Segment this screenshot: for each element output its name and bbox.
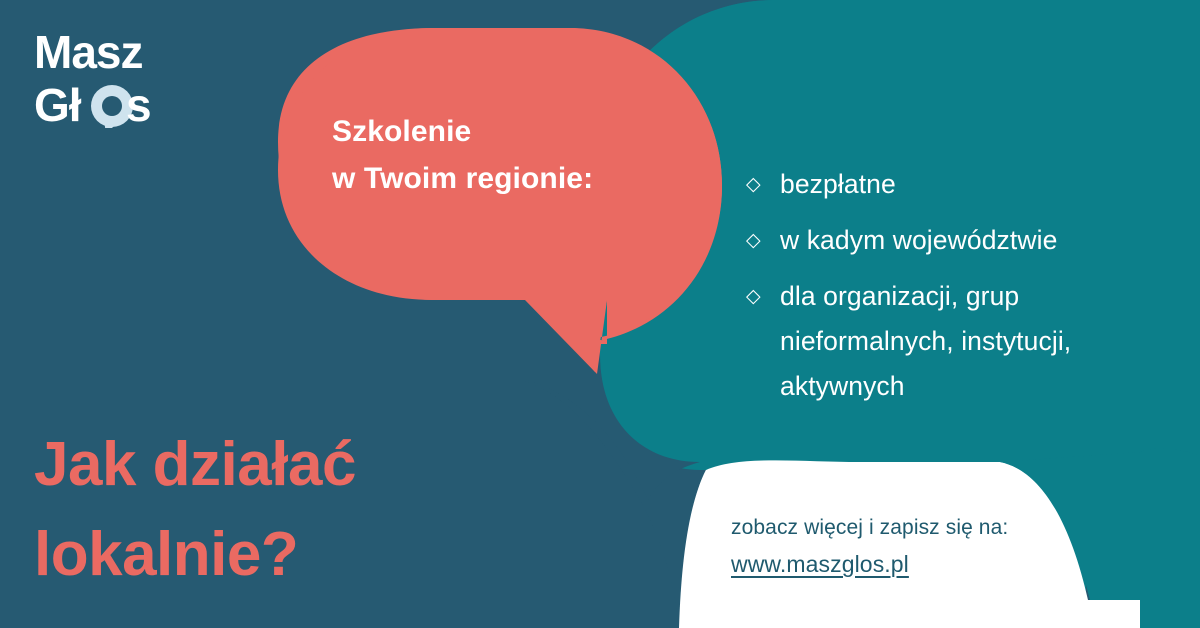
headline-line-1: Jak działać [34, 420, 554, 510]
list-item-line: dla organizacji, grup [780, 274, 1071, 319]
coral-line-2: w Twoim regionie: [332, 155, 692, 202]
diamond-bullet-icon: ◇ [744, 274, 780, 319]
list-item: ◇ dla organizacji, grup nieformalnych, i… [744, 274, 1164, 409]
svg-text:s: s [126, 79, 151, 128]
logo-line-2: Gł [34, 79, 82, 128]
headline-line-2: lokalnie? [34, 510, 554, 600]
list-item: ◇ w kadym województwie [744, 218, 1164, 263]
list-item-text: dla organizacji, grup nieformalnych, ins… [780, 274, 1071, 409]
list-item-text: w kadym województwie [780, 218, 1057, 263]
list-item: ◇ bezpłatne [744, 162, 1164, 207]
list-item-line: w kadym województwie [780, 218, 1057, 263]
logo-line-1: Masz [34, 28, 142, 78]
coral-line-1: Szkolenie [332, 108, 692, 155]
list-item-line: bezpłatne [780, 162, 896, 207]
list-item-text: bezpłatne [780, 162, 896, 207]
cta-text: zobacz więcej i zapisz się na: [731, 512, 1131, 545]
footer-call-to-action: zobacz więcej i zapisz się na: www.maszg… [731, 512, 1131, 582]
list-item-line: nieformalnych, instytucji, [780, 319, 1071, 364]
page-title: Jak działać lokalnie? [34, 420, 554, 600]
logo-masz-glos[interactable]: Masz Gł s [34, 28, 264, 128]
coral-bubble-text: Szkolenie w Twoim regionie: [332, 108, 692, 203]
poster-canvas: Masz Gł s Szkolenie w Twoim regionie: ◇ … [0, 0, 1200, 628]
website-link[interactable]: www.maszglos.pl [731, 547, 909, 583]
diamond-bullet-icon: ◇ [744, 218, 780, 263]
list-item-line: aktywnych [780, 364, 1071, 409]
diamond-bullet-icon: ◇ [744, 162, 780, 207]
benefits-list: ◇ bezpłatne ◇ w kadym województwie ◇ dla… [744, 162, 1164, 420]
